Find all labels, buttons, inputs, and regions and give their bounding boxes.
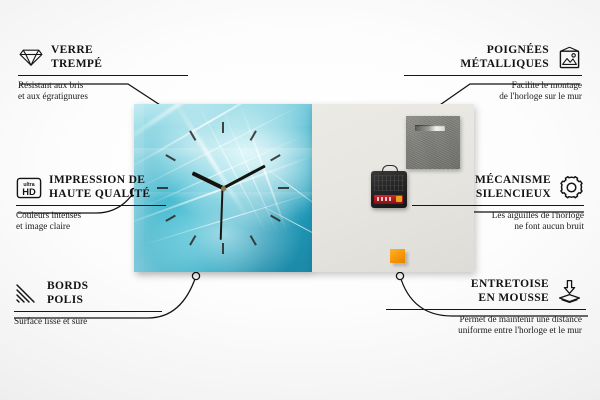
feature-divider [412,205,584,206]
feature-description: Surface lisse et sûre [14,316,224,327]
clock-tick [270,154,281,161]
feature-heading: POIGNÉES MÉTALLIQUES [372,44,582,71]
clock-tick [165,154,176,161]
feature-description: Facilite le montage de l'horloge sur le … [372,80,582,103]
feature-description: Couleurs intenses et image claire [16,210,226,233]
feature-title: POIGNÉES MÉTALLIQUES [460,44,549,71]
clock-tick [189,235,196,246]
feature-entretoise-en-mousse: ENTRETOISE EN MOUSSE Permet de maintenir… [386,278,582,337]
feature-verre-trempe: VERRE TREMPÉ Résistant aux bris et aux é… [18,44,228,103]
feature-title: IMPRESSION DE HAUTE QUALITÉ [49,174,150,201]
feature-divider [16,205,166,206]
feature-poignees-metalliques: POIGNÉES MÉTALLIQUES Facilite le montage… [372,44,582,103]
polished-edges-icon [14,281,40,307]
clock-tick [278,187,289,189]
foam-spacer-icon [556,279,582,305]
feature-description: Résistant aux bris et aux égratignures [18,80,228,103]
feature-description: Permet de maintenir une distance uniform… [386,314,582,337]
clock-tick [189,130,196,141]
gear-icon [558,175,584,201]
feature-impression-haute-qualite: ultra HD IMPRESSION DE HAUTE QUALITÉ Cou… [16,174,226,233]
feature-heading: VERRE TREMPÉ [18,44,228,71]
metal-hanger-plate [406,116,460,169]
clock-tick [250,130,257,141]
feature-title: ENTRETOISE EN MOUSSE [471,278,549,305]
feature-bords-polis: BORDS POLIS Surface lisse et sûre [14,280,224,327]
feature-heading: MÉCANISME SILENCIEUX [374,174,584,201]
clock-tick [270,215,281,222]
feature-mecanisme-silencieux: MÉCANISME SILENCIEUX Les aiguilles de l'… [374,174,584,233]
feature-description: Les aiguilles de l'horloge ne font aucun… [374,210,584,233]
clock-tick [250,235,257,246]
ultra-hd-icon: ultra HD [16,175,42,201]
hanger-slot [415,125,445,131]
foam-spacer [390,249,405,263]
feature-divider [404,75,582,76]
picture-frame-icon [556,45,582,71]
feature-divider [386,309,586,310]
feature-divider [14,311,162,312]
feature-title: BORDS POLIS [47,280,88,307]
clock-minute-hand [222,165,265,190]
feature-divider [18,75,188,76]
feature-heading: BORDS POLIS [14,280,224,307]
feature-heading: ENTRETOISE EN MOUSSE [386,278,582,305]
clock-tick [222,122,224,133]
infographic-canvas: VERRE TREMPÉ Résistant aux bris et aux é… [0,0,600,400]
feature-heading: ultra HD IMPRESSION DE HAUTE QUALITÉ [16,174,226,201]
feature-title: MÉCANISME SILENCIEUX [475,174,551,201]
clock-tick [222,243,224,254]
feature-title: VERRE TREMPÉ [51,44,102,71]
connector-dot-2 [192,272,199,279]
svg-text:HD: HD [22,186,36,197]
diamond-icon [18,45,44,71]
